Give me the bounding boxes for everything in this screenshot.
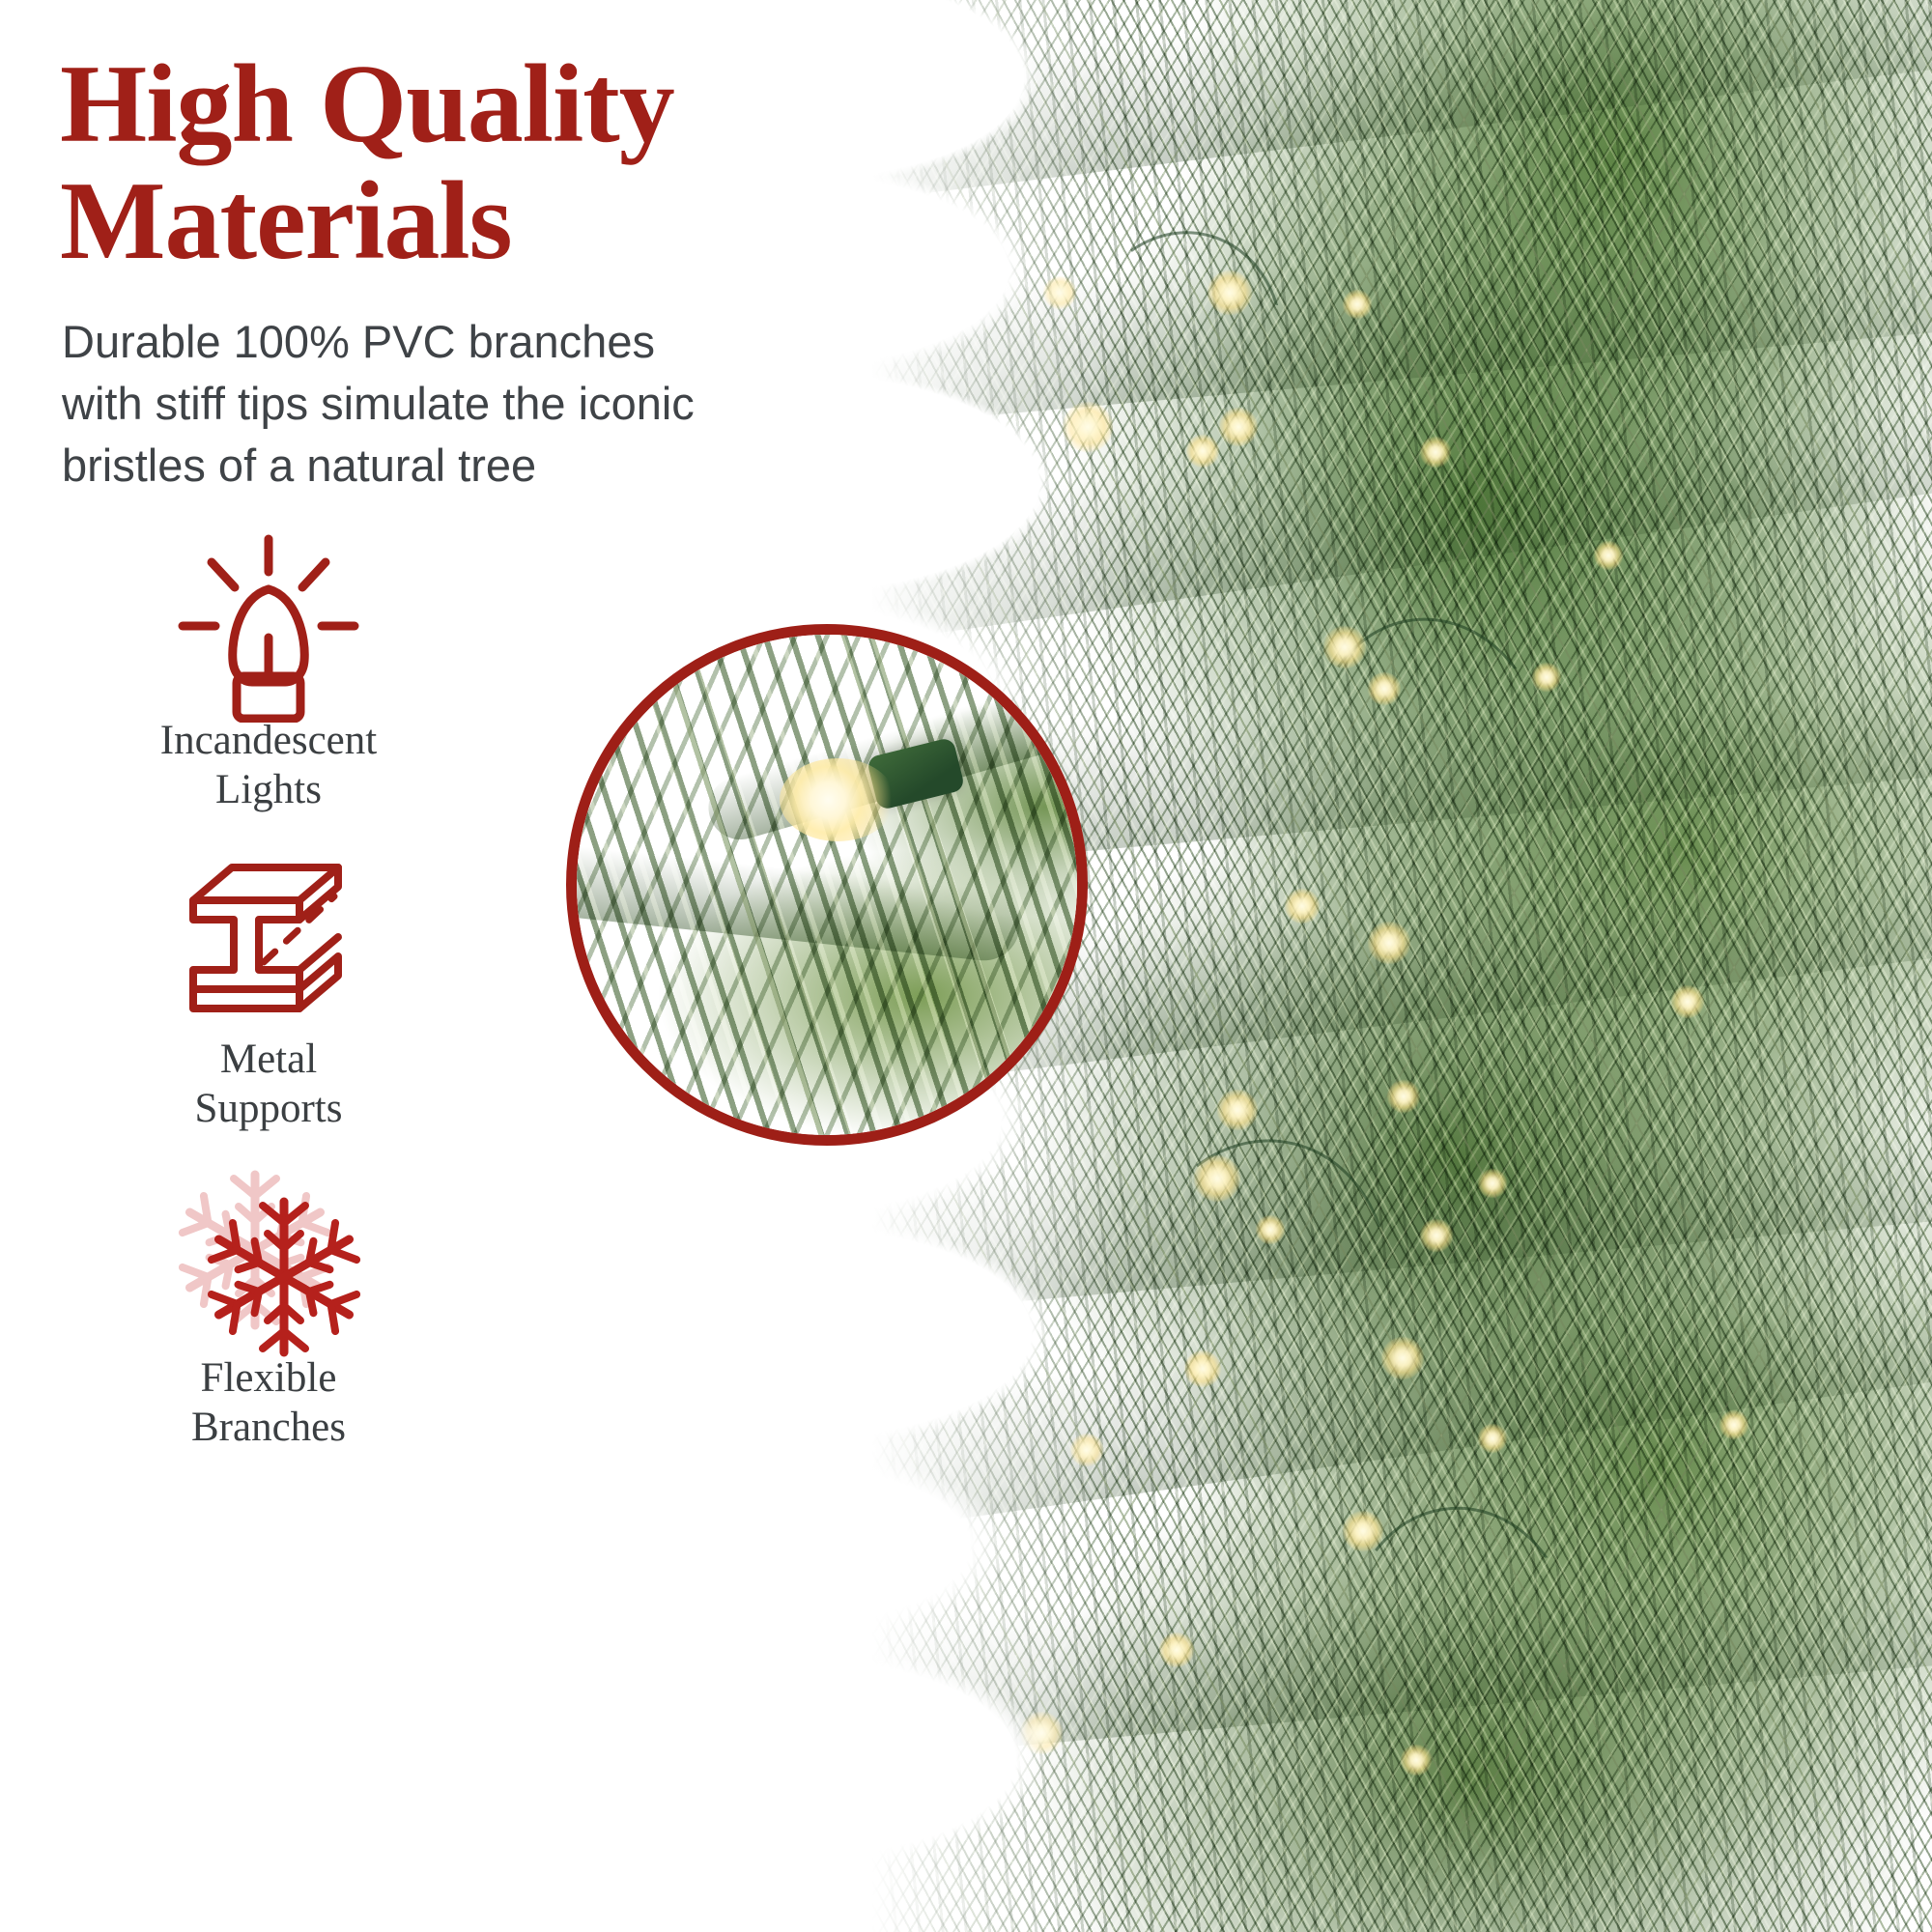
tree-light-bulb bbox=[1184, 1350, 1221, 1387]
light-bulb-icon bbox=[75, 529, 462, 723]
tree-light-bulb bbox=[1285, 889, 1320, 923]
feature-item-incandescent-lights: Incandescent Lights bbox=[75, 529, 462, 848]
light-bulb-icon-svg bbox=[167, 529, 370, 723]
tree-light-bulb bbox=[1671, 985, 1704, 1018]
tree-light-bulb bbox=[1719, 1410, 1748, 1439]
tree-light-bulb bbox=[1387, 1080, 1420, 1113]
tree-light-bulb bbox=[1594, 541, 1623, 570]
snowflake-front-layer bbox=[212, 1202, 356, 1352]
tree-light-bulb bbox=[1159, 1633, 1194, 1667]
tree-light-bulb bbox=[1420, 437, 1451, 468]
page-subtitle: Durable 100% PVC branches with stiff tip… bbox=[62, 311, 854, 497]
feature-list: Incandescent Lights bbox=[75, 529, 462, 1486]
tree-light-bulb bbox=[1368, 672, 1401, 705]
magnified-branch-callout bbox=[566, 624, 1088, 1146]
tree-light-bulb bbox=[1478, 1424, 1507, 1453]
i-beam-icon-svg bbox=[172, 858, 365, 1032]
marketing-infographic-canvas: High Quality Materials Durable 100% PVC … bbox=[0, 0, 1932, 1932]
feature-label: Incandescent Lights bbox=[75, 717, 462, 814]
snowflake-icon-svg bbox=[162, 1167, 375, 1360]
tree-light-bulb bbox=[1401, 1745, 1432, 1776]
callout-content bbox=[566, 624, 1088, 1146]
page-title: High Quality Materials bbox=[60, 46, 910, 279]
tree-light-bulb bbox=[1343, 290, 1372, 319]
tree-light-bulb bbox=[1368, 922, 1410, 964]
feature-label: Flexible Branches bbox=[75, 1354, 462, 1452]
tree-light-bulb bbox=[1186, 435, 1219, 468]
callout-lit-bulb bbox=[780, 758, 895, 841]
tree-light-bulb bbox=[1256, 1215, 1285, 1244]
feature-item-flexible-branches: Flexible Branches bbox=[75, 1167, 462, 1486]
callout-needle-highlight bbox=[566, 624, 1088, 1146]
tree-light-bulb bbox=[1323, 626, 1366, 668]
tree-light-bulb bbox=[1381, 1337, 1424, 1379]
tree-light-bulb bbox=[1478, 1169, 1507, 1198]
snowflake-icon bbox=[75, 1167, 462, 1360]
tree-light-bulb bbox=[1219, 408, 1258, 446]
tree-light-bulb bbox=[1194, 1155, 1240, 1202]
tree-light-bulb bbox=[1343, 1511, 1383, 1551]
tree-light-bulb bbox=[1207, 270, 1252, 315]
tree-light-bulb bbox=[1420, 1219, 1453, 1252]
feature-label: Metal Supports bbox=[75, 1036, 462, 1133]
feature-item-metal-supports: Metal Supports bbox=[75, 848, 462, 1167]
i-beam-icon bbox=[75, 848, 462, 1041]
tree-light-bulb bbox=[1217, 1090, 1258, 1130]
tree-light-bulb bbox=[1532, 663, 1561, 692]
